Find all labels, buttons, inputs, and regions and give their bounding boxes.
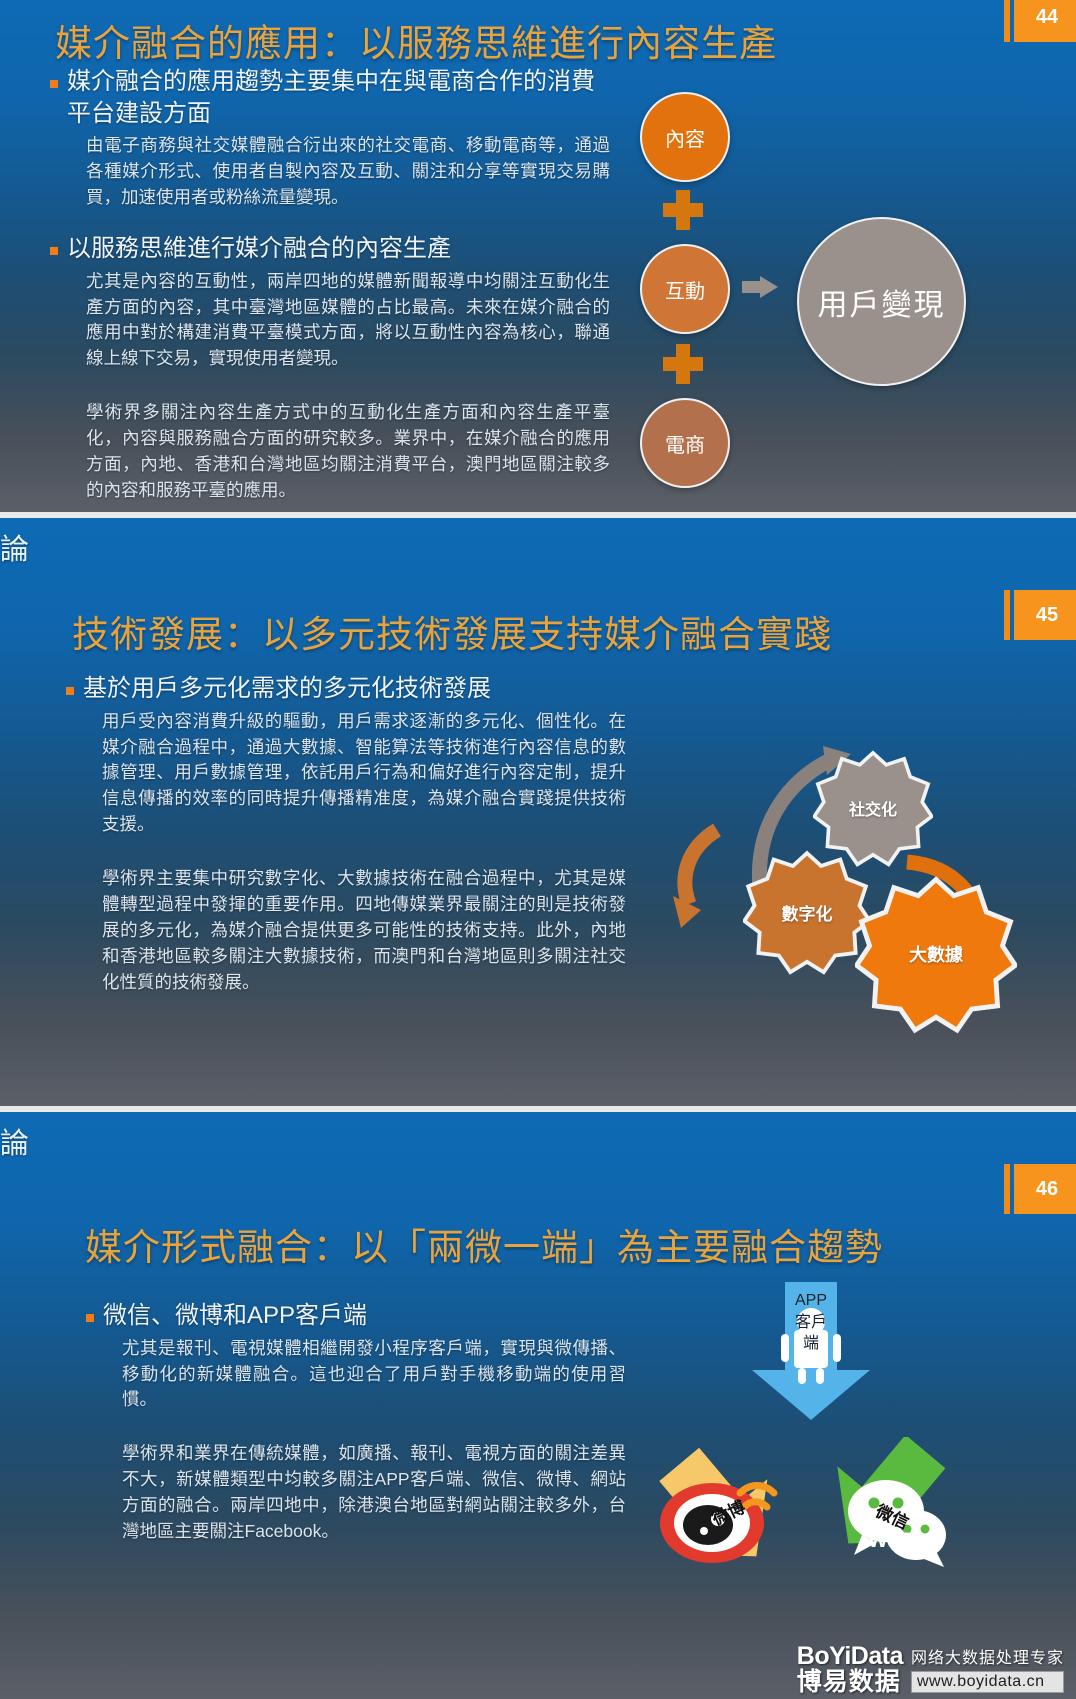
ecommerce-circle: 電商 xyxy=(640,398,730,488)
watermark-brand: BoYiData 博易数据 xyxy=(797,1643,903,1696)
bullet-item: 以服務思維進行媒介融合的內容生產 xyxy=(50,233,610,265)
page-badge-tick xyxy=(1004,0,1010,42)
bullet-heading: 媒介融合的應用趨勢主要集中在與電商合作的消費平台建設方面 xyxy=(67,66,610,129)
bullet-item: 基於用戶多元化需求的多元化技術發展 xyxy=(66,673,626,705)
content-group: 以服務思維進行媒介融合的內容生產 尤其是內容的互動性，兩岸四地的媒體新聞報導中均… xyxy=(50,233,610,504)
bigdata-gear: 大數據 xyxy=(855,873,1017,1035)
paragraph: 學術界和業界在傳統媒體，如廣播、報刊、電視方面的關注差異不大，新媒體類型中均較多… xyxy=(122,1441,626,1545)
paragraph: 學術界主要集中研究數字化、大數據技術在融合過程中，尤其是媒體轉型過程中發揮的重要… xyxy=(102,866,626,995)
plus-icon xyxy=(663,190,703,230)
media-arrows-diagram: APP 客戶 端 xyxy=(640,1282,1070,1682)
result-circle: 用戶變現 xyxy=(797,217,966,386)
app-client-arrow: APP 客戶 端 xyxy=(750,1282,872,1422)
watermark-brand-en: BoYiData xyxy=(797,1643,903,1669)
bullet-item: 媒介融合的應用趨勢主要集中在與電商合作的消費平台建設方面 xyxy=(50,66,610,129)
page-title: 技術發展：以多元技術發展支持媒介融合實踐 xyxy=(72,604,832,658)
arrow-right-icon xyxy=(742,276,778,298)
watermark-info: 网络大数据处理专家 www.boyidata.cn xyxy=(911,1644,1064,1695)
paragraph: 尤其是報刊、電視媒體相繼開發小程序客戶端，實現與微傳播、移動化的新媒體融合。這也… xyxy=(122,1336,626,1414)
paragraph: 學術界多關注內容生產方式中的互動化生產方面和內容生產平臺化，內容與服務融合方面的… xyxy=(86,400,610,504)
bullet-square-icon xyxy=(66,687,74,695)
slide-body: 媒介融合的應用趨勢主要集中在與電商合作的消費平台建設方面 由電子商務與社交媒體融… xyxy=(50,66,610,512)
content-group: 媒介融合的應用趨勢主要集中在與電商合作的消費平台建設方面 由電子商務與社交媒體融… xyxy=(50,66,610,211)
digital-gear-label: 數字化 xyxy=(782,900,833,925)
ecommerce-circle-label: 電商 xyxy=(665,429,705,458)
watermark-tagline: 网络大数据处理专家 xyxy=(911,1644,1064,1668)
digital-gear: 數字化 xyxy=(743,848,871,976)
weibo-arrow: 微博 xyxy=(648,1437,798,1567)
bigdata-gear-label: 大數據 xyxy=(909,941,963,967)
plus-icon xyxy=(663,344,703,384)
wechat-arrow-sublabel: WeChat xyxy=(868,1529,943,1553)
bullet-item: 微信、微博和APP客戶端 xyxy=(86,1300,626,1332)
bullet-square-icon xyxy=(86,1314,94,1322)
app-arrow-label: APP 客戶 端 xyxy=(750,1290,872,1355)
interaction-circle-label: 互動 xyxy=(665,275,705,304)
slide-45: 結論 45 技術發展：以多元技術發展支持媒介融合實踐 基於用戶多元化需求的多元化… xyxy=(0,518,1076,1106)
paragraph: 尤其是內容的互動性，兩岸四地的媒體新聞報導中均關注互動化生產方面的內容，其中臺灣… xyxy=(86,269,610,373)
slide-body: 微信、微博和APP客戶端 尤其是報刊、電視媒體相繼開發小程序客戶端，實現與微傳播… xyxy=(86,1300,626,1565)
section-label: 結論 xyxy=(0,526,30,568)
content-circle: 內容 xyxy=(640,92,730,182)
watermark-url[interactable]: www.boyidata.cn xyxy=(911,1671,1064,1693)
social-gear-label: 社交化 xyxy=(849,796,897,820)
flow-diagram: 內容 互動 電商 用戶變現 xyxy=(620,72,1060,492)
interaction-circle: 互動 xyxy=(640,244,730,334)
app-arrow-label-line: APP xyxy=(750,1290,872,1312)
content-group: 基於用戶多元化需求的多元化技術發展 用戶受內容消費升級的驅動，用戶需求逐漸的多元… xyxy=(66,673,626,996)
page-badge-45: 45 xyxy=(1004,590,1076,640)
page-title: 媒介形式融合：以「兩微一端」為主要融合趨勢 xyxy=(85,1217,883,1271)
watermark: BoYiData 博易数据 网络大数据处理专家 www.boyidata.cn xyxy=(797,1643,1064,1696)
page-title: 媒介融合的應用：以服務思維進行內容生產 xyxy=(55,13,777,67)
slide-body: 基於用戶多元化需求的多元化技術發展 用戶受內容消費升級的驅動，用戶需求逐漸的多元… xyxy=(66,673,626,1016)
content-circle-label: 內容 xyxy=(665,123,705,152)
page-number: 44 xyxy=(1014,0,1076,42)
slide-44: 44 媒介融合的應用：以服務思維進行內容生產 媒介融合的應用趨勢主要集中在與電商… xyxy=(0,0,1076,512)
page-badge-44: 44 xyxy=(1004,0,1076,42)
app-arrow-label-line: 客戶 xyxy=(750,1312,872,1334)
page-number: 45 xyxy=(1014,590,1076,640)
content-group: 微信、微博和APP客戶端 尤其是報刊、電視媒體相繼開發小程序客戶端，實現與微傳播… xyxy=(86,1300,626,1545)
bullet-square-icon xyxy=(50,80,58,88)
page-badge-tick xyxy=(1004,590,1010,640)
slide-46: 結論 46 媒介形式融合：以「兩微一端」為主要融合趨勢 微信、微博和APP客戶端… xyxy=(0,1112,1076,1699)
section-label: 結論 xyxy=(0,1120,30,1162)
app-arrow-label-line: 端 xyxy=(750,1333,872,1355)
paragraph: 用戶受內容消費升級的驅動，用戶需求逐漸的多元化、個性化。在媒介融合過程中，通過大… xyxy=(102,709,626,838)
paragraph: 由電子商務與社交媒體融合衍出來的社交電商、移動電商等，通過各種媒介形式、使用者自… xyxy=(86,133,610,211)
bullet-heading: 以服務思維進行媒介融合的內容生產 xyxy=(67,233,451,265)
gear-diagram: 社交化 數字化 大數據 xyxy=(645,698,1045,1038)
watermark-brand-cn: 博易数据 xyxy=(797,1669,903,1695)
page-number: 46 xyxy=(1014,1164,1076,1214)
bullet-square-icon xyxy=(50,247,58,255)
result-circle-label: 用戶變現 xyxy=(818,280,946,324)
slide-deck: 44 媒介融合的應用：以服務思維進行內容生產 媒介融合的應用趨勢主要集中在與電商… xyxy=(0,0,1076,1699)
bullet-heading: 微信、微博和APP客戶端 xyxy=(103,1300,367,1332)
bullet-heading: 基於用戶多元化需求的多元化技術發展 xyxy=(83,673,491,705)
page-badge-tick xyxy=(1004,1164,1010,1214)
wechat-arrow: 微信 WeChat xyxy=(810,1437,960,1567)
page-badge-46: 46 xyxy=(1004,1164,1076,1214)
